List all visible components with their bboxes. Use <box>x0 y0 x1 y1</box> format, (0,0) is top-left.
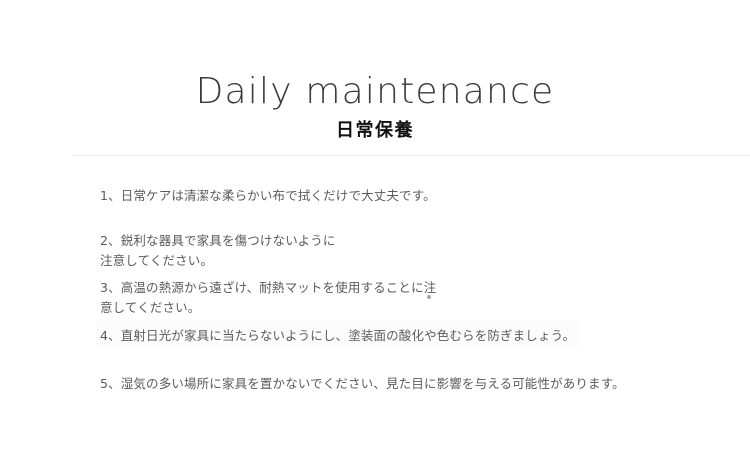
page-root: Daily maintenance 日常保養 1、日常ケアは清潔な柔らかい布で拭… <box>0 0 750 462</box>
list-item: 4、直射日光が家具に当たらないようにし、塗装面の酸化や色むらを防ぎましょう。 <box>100 326 660 346</box>
list-item: 2、鋭利な器具で家具を傷つけないように 注意してください。 <box>100 231 520 271</box>
list-item: 5、湿気の多い場所に家具を置かないでください、見た目に影響を与える可能性がありま… <box>100 374 660 394</box>
list-item: 1、日常ケアは清潔な柔らかい布で拭くだけで大丈夫です。 <box>100 186 660 206</box>
list-item: 3、高温の熱源から遠ざけ、耐熱マットを使用することに注 意してください。 <box>100 278 445 318</box>
header-divider <box>72 155 750 156</box>
page-title-japanese: 日常保養 <box>0 118 750 144</box>
page-title-english: Daily maintenance <box>0 70 750 114</box>
